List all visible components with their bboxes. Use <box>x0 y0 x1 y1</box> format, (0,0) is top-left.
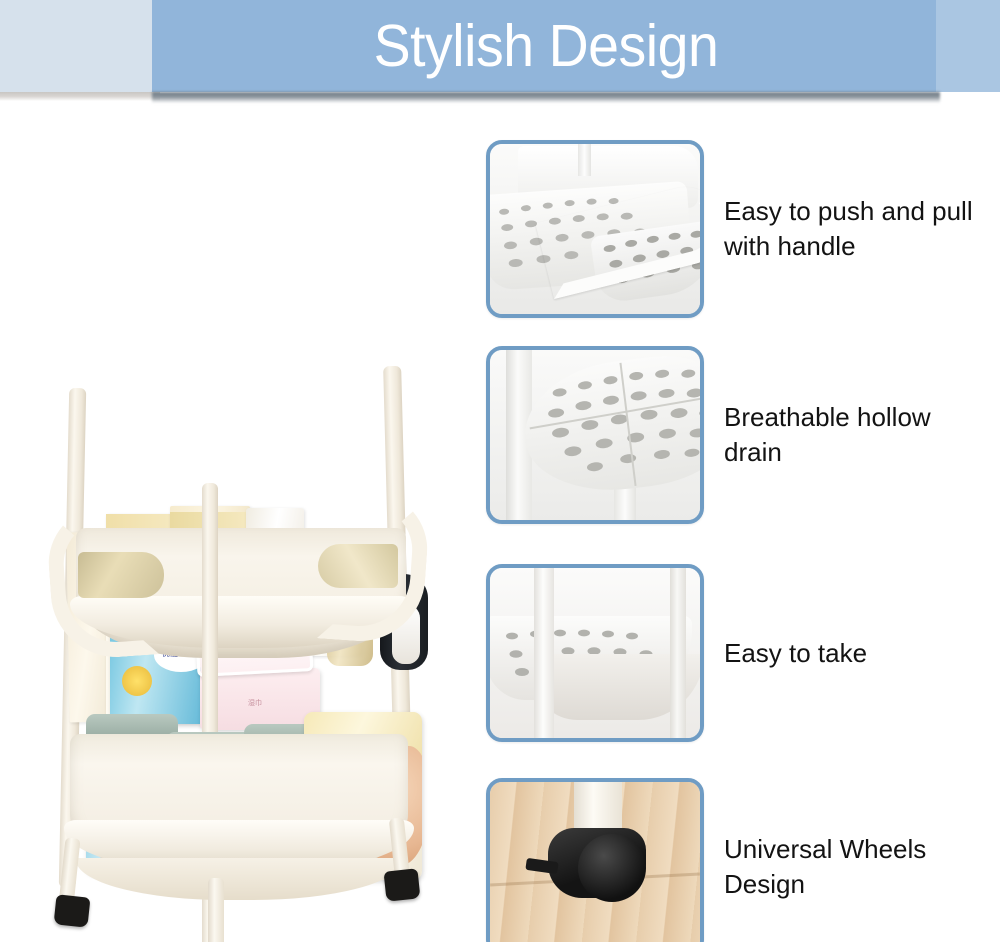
header-left-strip <box>0 0 156 92</box>
thumb-post-right <box>670 568 686 742</box>
header-left-shadow <box>0 92 160 101</box>
feature-list: Easy to push and pull with handle <box>486 140 1000 940</box>
formula-gold-seal <box>122 666 152 696</box>
page-title: Stylish Design <box>176 0 917 92</box>
product-infographic-page: Stylish Design The lili <box>0 0 1000 942</box>
feature-label-wheels: Universal Wheels Design <box>724 832 992 902</box>
feature-label-access: Easy to take <box>724 636 867 671</box>
caster-wheel-closeup-thumbnail <box>486 778 704 942</box>
header-right-strip <box>936 0 1000 92</box>
caster-wheel-left <box>54 894 91 927</box>
feature-row-drain: Breathable hollow drain <box>486 346 1000 524</box>
cart-leg-front <box>208 878 224 942</box>
feature-label-drain: Breathable hollow drain <box>724 400 992 470</box>
perforated-shelf-closeup-thumbnail <box>486 346 704 524</box>
header-drop-shadow <box>152 92 940 103</box>
header-banner: Stylish Design <box>0 0 1000 104</box>
cart-handle-closeup-thumbnail <box>486 140 704 318</box>
cart-bottom-basket: Pampers premium care <box>58 708 420 898</box>
wipes-label: 湿巾 <box>248 698 262 708</box>
perforation-holes-icon <box>517 347 704 500</box>
feature-row-access: Easy to take <box>486 564 1000 742</box>
thumb-perforated-disc <box>517 347 704 500</box>
caster-wheel-icon <box>578 834 646 902</box>
product-hero-image: The lili lili Baby Cream lili Baby Cream <box>12 118 474 930</box>
feature-label-handle: Easy to push and pull with handle <box>724 194 992 264</box>
thumb-post-left <box>534 568 554 742</box>
thumb-post <box>578 144 591 176</box>
cart-handle-left <box>45 503 159 662</box>
open-shelf-closeup-thumbnail <box>486 564 704 742</box>
feature-row-wheels: Universal Wheels Design <box>486 778 1000 942</box>
bottom-basket-base <box>76 858 402 900</box>
feature-row-handle: Easy to push and pull with handle <box>486 140 1000 318</box>
cart-top-basket: The lili lili Baby Cream lili Baby Cream <box>50 500 428 670</box>
caster-wheel-right <box>384 868 421 901</box>
rolling-cart-illustration: The lili lili Baby Cream lili Baby Cream <box>42 278 432 942</box>
